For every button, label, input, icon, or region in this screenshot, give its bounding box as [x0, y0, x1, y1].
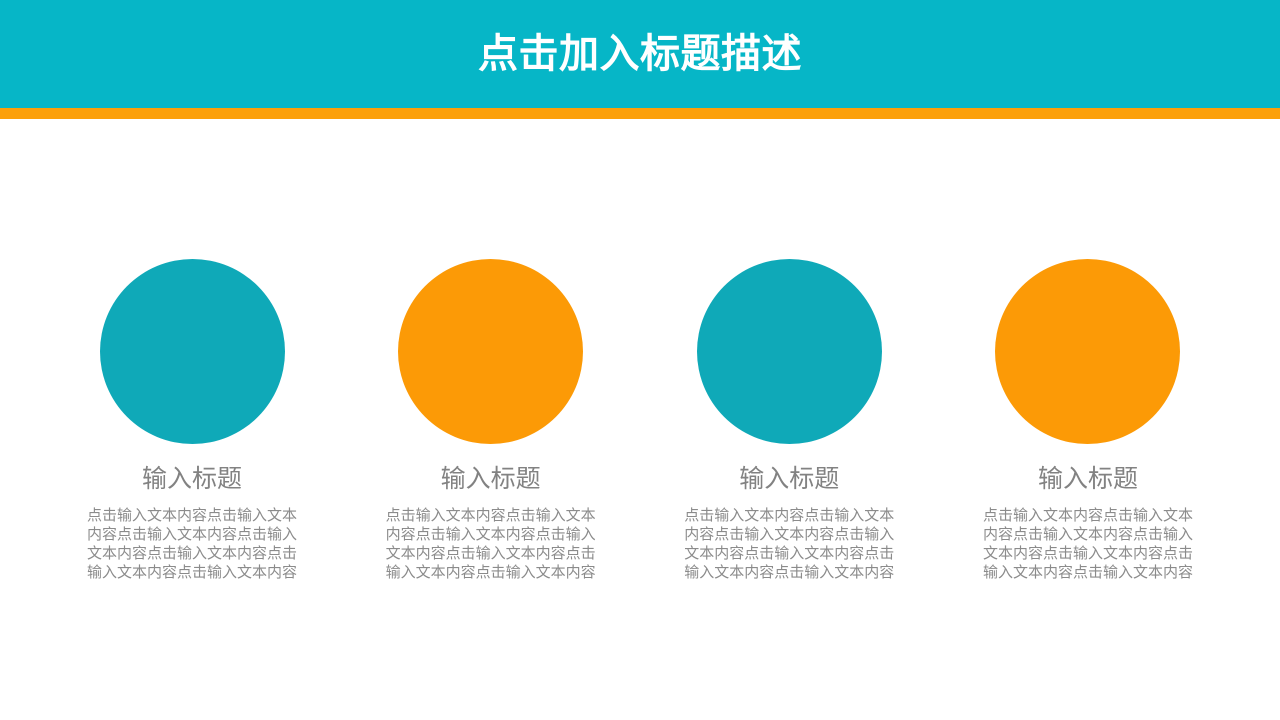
content-column-4[interactable]: 输入标题 点击输入文本内容点击输入文本内容点击输入文本内容点击输入文本内容点击输…	[939, 259, 1237, 582]
circle-shape-2[interactable]	[398, 259, 583, 444]
column-body-text-4[interactable]: 点击输入文本内容点击输入文本内容点击输入文本内容点击输入文本内容点击输入文本内容…	[977, 506, 1199, 583]
column-body-text-1[interactable]: 点击输入文本内容点击输入文本内容点击输入文本内容点击输入文本内容点击输入文本内容…	[81, 506, 303, 583]
slide-canvas: { "slide": { "title": "点击加入标题描述", "theme…	[0, 0, 1280, 720]
slide-body: 输入标题 点击输入文本内容点击输入文本内容点击输入文本内容点击输入文本内容点击输…	[0, 119, 1280, 720]
slide-header-banner: 点击加入标题描述	[0, 0, 1280, 108]
content-column-1[interactable]: 输入标题 点击输入文本内容点击输入文本内容点击输入文本内容点击输入文本内容点击输…	[43, 259, 341, 582]
circle-shape-1[interactable]	[100, 259, 285, 444]
column-body-text-3[interactable]: 点击输入文本内容点击输入文本内容点击输入文本内容点击输入文本内容点击输入文本内容…	[678, 506, 900, 583]
column-heading-1[interactable]: 输入标题	[142, 466, 242, 494]
content-column-3[interactable]: 输入标题 点击输入文本内容点击输入文本内容点击输入文本内容点击输入文本内容点击输…	[640, 259, 938, 582]
circle-shape-3[interactable]	[697, 259, 882, 444]
content-column-2[interactable]: 输入标题 点击输入文本内容点击输入文本内容点击输入文本内容点击输入文本内容点击输…	[342, 259, 640, 582]
page-title[interactable]: 点击加入标题描述	[478, 34, 802, 74]
column-group: 输入标题 点击输入文本内容点击输入文本内容点击输入文本内容点击输入文本内容点击输…	[43, 259, 1237, 582]
column-body-text-2[interactable]: 点击输入文本内容点击输入文本内容点击输入文本内容点击输入文本内容点击输入文本内容…	[380, 506, 602, 583]
column-heading-2[interactable]: 输入标题	[441, 466, 541, 494]
column-heading-4[interactable]: 输入标题	[1038, 466, 1138, 494]
column-heading-3[interactable]: 输入标题	[739, 466, 839, 494]
circle-shape-4[interactable]	[995, 259, 1180, 444]
header-accent-bar	[0, 108, 1280, 119]
